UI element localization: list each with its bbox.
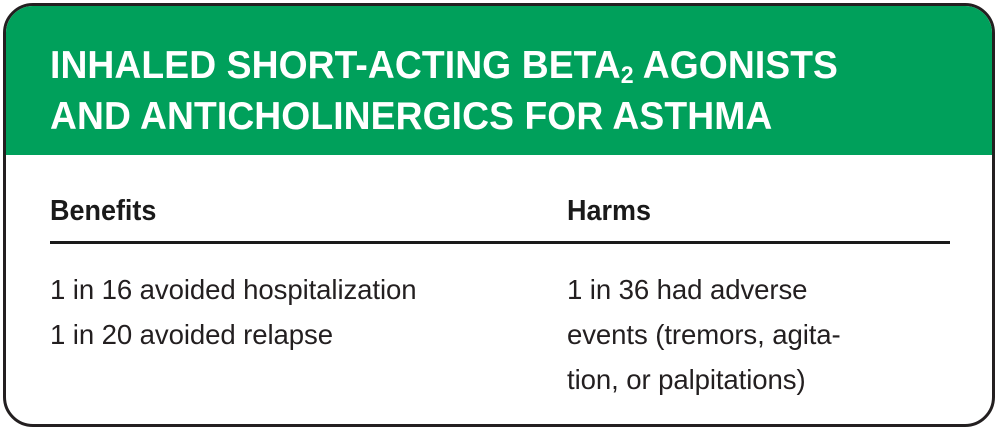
column-harms: Harms — [567, 155, 947, 228]
list-item: 1 in 16 avoided hospitalization — [50, 267, 559, 312]
card-body: Benefits Harms 1 in 16 avoided hospitali… — [6, 155, 992, 427]
card-title-line-1-post: AGONISTS — [634, 44, 838, 87]
column-content-row: 1 in 16 avoided hospitalization 1 in 20 … — [50, 244, 948, 402]
list-item: 1 in 36 had adverse — [567, 267, 941, 312]
list-item: events (tremors, agita- — [567, 312, 941, 357]
benefits-list: 1 in 16 avoided hospitalization 1 in 20 … — [50, 244, 567, 357]
column-harms-content: 1 in 36 had adverse events (tremors, agi… — [567, 244, 947, 402]
column-benefits: Benefits — [50, 155, 567, 228]
card-title-line-2: AND ANTICHOLINERGICS FOR ASTHMA — [50, 94, 908, 140]
column-title-benefits: Benefits — [50, 155, 531, 228]
card-title-line-1: INHALED SHORT-ACTING BETA2 AGONISTS — [50, 43, 908, 94]
list-item: tion, or palpitations) — [567, 357, 941, 402]
card-header: INHALED SHORT-ACTING BETA2 AGONISTS AND … — [6, 6, 992, 155]
card-title-subscript: 2 — [621, 62, 634, 89]
column-titles-row: Benefits Harms — [50, 155, 948, 228]
harms-list: 1 in 36 had adverse events (tremors, agi… — [567, 244, 947, 402]
card-title-line-1-pre: INHALED SHORT-ACTING BETA — [50, 44, 621, 87]
list-item: 1 in 20 avoided relapse — [50, 312, 559, 357]
benefits-harms-card: INHALED SHORT-ACTING BETA2 AGONISTS AND … — [3, 3, 995, 427]
column-benefits-content: 1 in 16 avoided hospitalization 1 in 20 … — [50, 244, 567, 402]
column-title-harms: Harms — [567, 155, 920, 228]
